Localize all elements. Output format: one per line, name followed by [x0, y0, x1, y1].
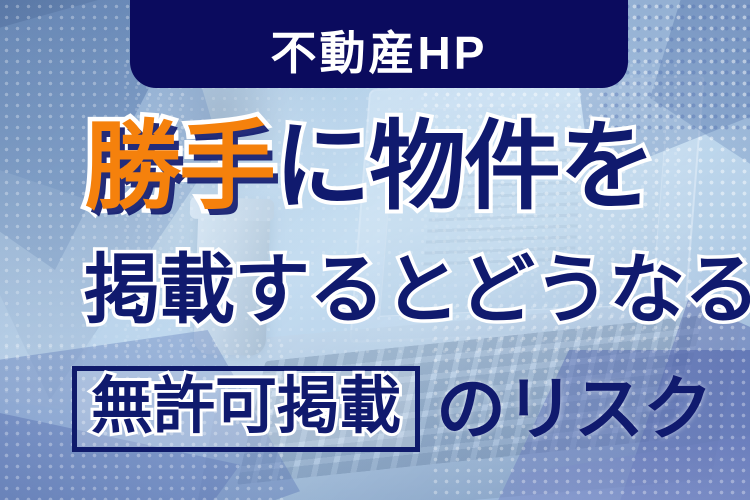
headline-line-3: 無許可掲載 のリスク [72, 366, 712, 452]
headline-line-2: 掲載するとどうなる? [84, 253, 750, 329]
headline-line-1-rest: に物件を [274, 112, 654, 221]
headline-line-2-text: 掲載するとどうなる? [84, 248, 750, 333]
headline-highlight-word: 勝手 [84, 112, 274, 221]
boxed-keyword: 無許可掲載 [72, 366, 420, 452]
thumbnail-banner: 不動産HP 勝手に物件を 掲載するとどうなる? 無許可掲載 のリスク [0, 0, 750, 500]
headline-line-1: 勝手に物件を [84, 118, 654, 215]
headline-group: 勝手に物件を 掲載するとどうなる? 無許可掲載 のリスク [0, 0, 750, 500]
headline-line-3-suffix: のリスク [436, 374, 712, 444]
boxed-keyword-label: 無許可掲載 [91, 376, 401, 438]
